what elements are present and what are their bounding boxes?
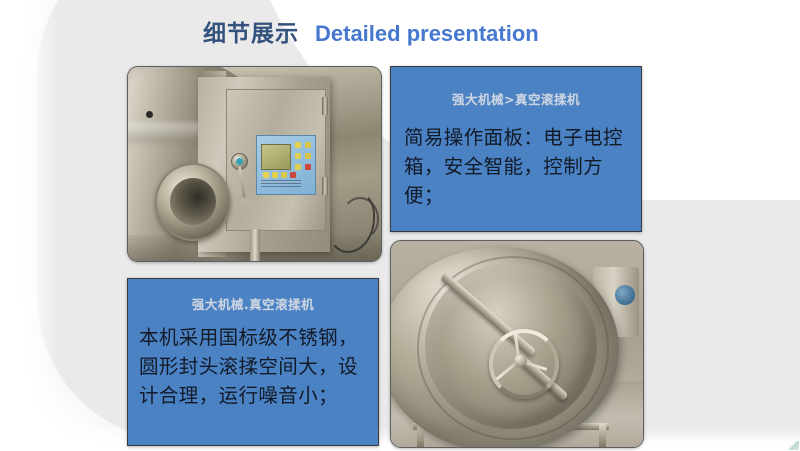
textbox-material-header: 强大机械.真空滚揉机 xyxy=(139,294,367,313)
textbox-panel: 强大机械>真空滚揉机 简易操作面板：电子电控箱，安全智能，控制方便； xyxy=(390,66,642,232)
slide: 细节展示 Detailed presentation xyxy=(0,0,800,451)
photo2-frame-leg-right xyxy=(599,423,606,447)
textbox-material-body: 本机采用国标级不锈钢，圆形封头滚揉空间大，设计合理，运行噪音小； xyxy=(139,323,367,410)
photo1-button-5 xyxy=(295,164,301,170)
photo1-button-6 xyxy=(263,172,269,178)
photo2-rear-wheel xyxy=(615,285,635,305)
photo1-button-1 xyxy=(295,142,301,148)
photo2-handwheel-hub xyxy=(514,354,527,367)
slide-title: 细节展示 Detailed presentation xyxy=(203,14,539,48)
photo1-button-3 xyxy=(295,153,301,159)
textbox-material: 强大机械.真空滚揉机 本机采用国标级不锈钢，圆形封头滚揉空间大，设计合理，运行噪… xyxy=(127,278,379,446)
photo1-support-leg xyxy=(250,229,260,261)
photo1-hinge-top xyxy=(322,97,328,115)
textbox-panel-body: 简易操作面板：电子电控箱，安全智能，控制方便； xyxy=(404,123,628,210)
textbox-panel-header: 强大机械>真空滚揉机 xyxy=(404,89,628,108)
background-left-fade xyxy=(0,0,60,451)
photo1-operation-panel xyxy=(256,135,316,195)
photo1-panel-label-strip xyxy=(261,180,301,189)
slide-title-english: Detailed presentation xyxy=(315,21,539,47)
photo1-button-2 xyxy=(305,142,311,148)
photo1-flange-bolt xyxy=(146,111,153,118)
corner-watermark xyxy=(785,441,799,450)
photo1-button-7 xyxy=(272,172,278,178)
photo1-hinge-bottom xyxy=(322,177,328,195)
photo-control-panel-machine xyxy=(127,66,382,262)
photo1-button-8 xyxy=(281,172,287,178)
photo1-vacuum-flange xyxy=(155,163,231,241)
photo1-button-9 xyxy=(290,172,296,178)
photo1-cable-coil-2 xyxy=(341,197,379,241)
slide-title-chinese: 细节展示 xyxy=(203,14,299,48)
photo1-lcd-screen xyxy=(261,144,291,170)
photo1-button-4 xyxy=(305,153,311,159)
photo-tumbler-door xyxy=(390,240,644,448)
photo1-button-stop xyxy=(305,164,311,170)
